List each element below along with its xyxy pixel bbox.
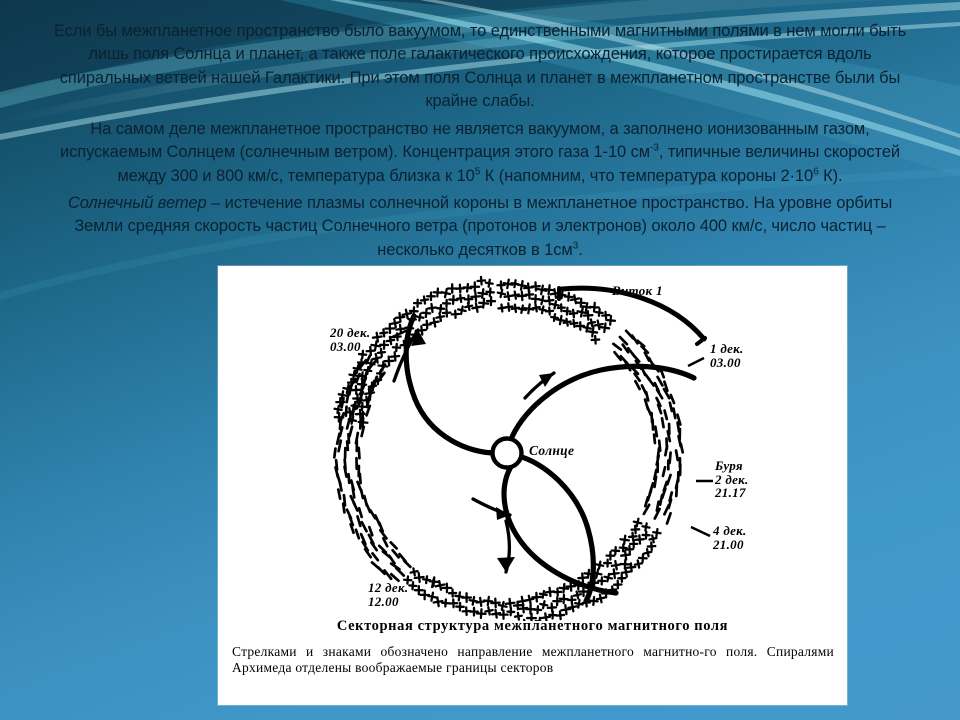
label-storm: Буря 2 дек. 21.17 [715,459,749,500]
figure-caption: Секторная структура межпланетного магнит… [218,618,847,677]
figure-caption-body: Стрелками и знаками обозначено направлен… [218,644,847,677]
label-orbit: Виток 1 [612,284,663,298]
leader-dec4 [691,527,710,536]
leader-dec1 [688,358,704,366]
paragraph-2: На самом деле межпланетное пространство … [46,118,914,188]
paragraph-3-part-2: . [578,241,582,259]
paragraph-1: Если бы межпланетное пространство было в… [46,20,914,114]
paragraph-2-sup-1: -3 [650,143,659,154]
label-date-dec4: 4 дек. 21.00 [713,524,747,551]
label-sun: Солнце [529,444,574,458]
label-date-dec20: 20 дек. 03.00 [330,326,370,353]
label-date-dec12: 12 дек. 12.00 [368,581,408,608]
slide-canvas: Если бы межпланетное пространство было в… [0,0,960,720]
figure-image-panel: Виток 1 20 дек. 03.00 1 дек. 03.00 Буря … [218,266,847,705]
sun-symbol [493,439,522,468]
label-date-dec1: 1 дек. 03.00 [710,342,744,369]
sector-structure-diagram: Виток 1 20 дек. 03.00 1 дек. 03.00 Буря … [218,266,847,621]
paragraph-3: Солнечный ветер – истечение плазмы солне… [46,192,914,262]
paragraph-3-emphasis: Солнечный ветер [68,194,207,212]
figure-caption-title: Секторная структура межпланетного магнит… [218,618,847,635]
slide-body-text: Если бы межпланетное пространство было в… [46,20,914,266]
paragraph-2-part-4: К). [819,167,843,185]
paragraph-2-part-3: К (напомним, что температура короны 2·10 [480,167,813,185]
